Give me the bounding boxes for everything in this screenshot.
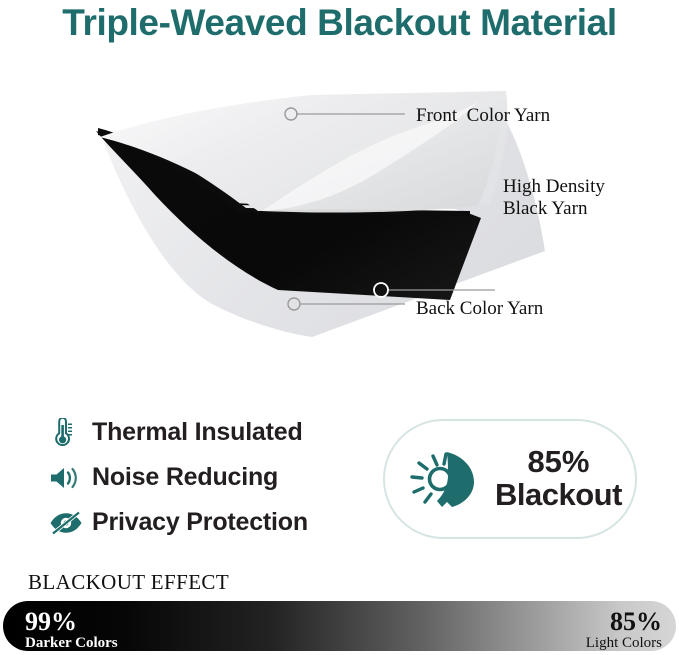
callout-label-high-density-black-yarn: High Density Black Yarn	[503, 176, 605, 221]
badge-text-group: 85% Blackout	[495, 446, 622, 512]
speaker-icon	[48, 461, 92, 495]
blackout-badge: 85% Blackout	[383, 419, 637, 539]
thermometer-icon	[48, 416, 92, 450]
gradient-bar-left-group: 99% Darker Colors	[25, 609, 118, 651]
blackout-effect-heading: BLACKOUT EFFECT	[28, 570, 229, 595]
gradient-bar-right-caption: Light Colors	[586, 636, 662, 651]
sun-behind-curtain-icon	[403, 442, 489, 516]
feature-noise-reducing: Noise Reducing	[48, 455, 378, 500]
feature-label-privacy-protection: Privacy Protection	[92, 508, 308, 537]
feature-thermal-insulated: Thermal Insulated	[48, 410, 378, 455]
gradient-bar-left-percent: 99%	[25, 609, 118, 635]
callout-label-front-color-yarn: Front Color Yarn	[416, 105, 550, 127]
eye-slash-icon	[48, 506, 92, 540]
fabric-layers-diagram: Front Color Yarn High Density Black Yarn…	[0, 85, 679, 350]
gradient-bar-left-caption: Darker Colors	[25, 636, 118, 651]
badge-percent: 85%	[495, 446, 622, 479]
feature-label-thermal-insulated: Thermal Insulated	[92, 418, 303, 447]
blackout-effect-gradient-bar: 99% Darker Colors 85% Light Colors	[3, 601, 676, 651]
gradient-bar-right-percent: 85%	[586, 609, 662, 635]
page-title: Triple-Weaved Blackout Material	[0, 2, 679, 44]
feature-list: Thermal Insulated Noise Reducing	[48, 410, 378, 545]
infographic-page: Triple-Weaved Blackout Material	[0, 0, 679, 655]
badge-word: Blackout	[495, 479, 622, 512]
feature-privacy-protection: Privacy Protection	[48, 500, 378, 545]
feature-label-noise-reducing: Noise Reducing	[92, 463, 278, 492]
callout-label-back-color-yarn: Back Color Yarn	[416, 298, 543, 320]
gradient-bar-right-group: 85% Light Colors	[586, 609, 662, 651]
